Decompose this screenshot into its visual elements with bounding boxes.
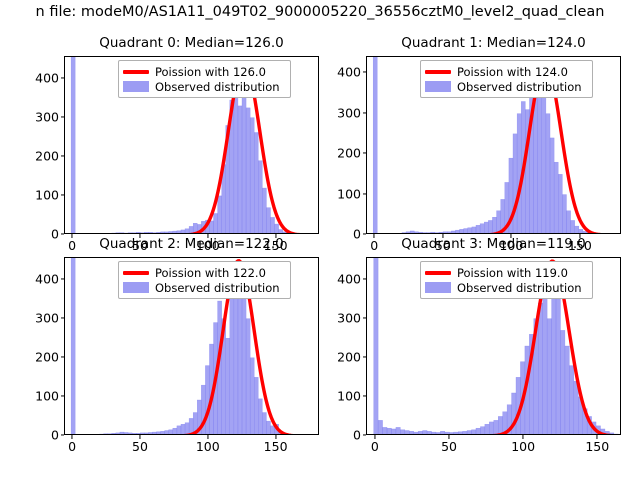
y-tick-label: 100 bbox=[337, 388, 361, 403]
patch-swatch-icon bbox=[425, 81, 451, 93]
legend-entry-poisson: Poission with 122.0 bbox=[123, 265, 285, 280]
legend-entry-observed: Observed distribution bbox=[425, 79, 587, 94]
y-tick-label: 0 bbox=[353, 227, 361, 242]
x-tick-mark bbox=[448, 435, 449, 439]
x-tick-mark bbox=[275, 435, 276, 439]
subplot-title-quadrant-0: Quadrant 0: Median=126.0 bbox=[64, 35, 319, 51]
y-tick-mark bbox=[61, 278, 65, 279]
y-tick-label: 100 bbox=[337, 186, 361, 201]
x-tick-label: 0 bbox=[68, 439, 76, 454]
subplot-title-quadrant-2: Quadrant 2: Median=122.0 bbox=[64, 236, 319, 252]
y-tick-label: 300 bbox=[337, 105, 361, 120]
legend-label-observed: Observed distribution bbox=[457, 80, 582, 94]
y-tick-label: 300 bbox=[337, 310, 361, 325]
y-tick-mark bbox=[363, 278, 367, 279]
x-tick-label: 50 bbox=[441, 439, 457, 454]
y-tick-label: 300 bbox=[35, 109, 59, 124]
y-tick-label: 200 bbox=[35, 148, 59, 163]
patch-swatch-icon bbox=[425, 282, 451, 294]
legend-quadrant-2: Poission with 122.0 Observed distributio… bbox=[118, 261, 291, 299]
y-tick-label: 200 bbox=[337, 349, 361, 364]
y-tick-mark bbox=[61, 434, 65, 435]
subplot-quadrant-1: Quadrant 1: Median=124.0 0100200300400 0… bbox=[366, 56, 621, 234]
x-tick-label: 0 bbox=[371, 439, 379, 454]
y-tick-label: 400 bbox=[337, 271, 361, 286]
y-tick-mark bbox=[363, 72, 367, 73]
legend-quadrant-3: Poission with 119.0 Observed distributio… bbox=[420, 261, 593, 299]
figure-suptitle: n file: modeM0/AS1A11_049T02_9000005220_… bbox=[0, 4, 640, 20]
legend-entry-poisson: Poission with 126.0 bbox=[123, 64, 285, 79]
x-tick-mark bbox=[139, 435, 140, 439]
y-tick-mark bbox=[61, 395, 65, 396]
x-tick-mark bbox=[207, 435, 208, 439]
y-tick-mark bbox=[363, 317, 367, 318]
y-tick-label: 100 bbox=[35, 187, 59, 202]
y-tick-mark bbox=[363, 193, 367, 194]
x-tick-label: 100 bbox=[196, 439, 220, 454]
y-tick-mark bbox=[61, 233, 65, 234]
patch-swatch-icon bbox=[123, 282, 149, 294]
y-tick-mark bbox=[61, 194, 65, 195]
legend-entry-observed: Observed distribution bbox=[425, 280, 587, 295]
y-tick-mark bbox=[363, 356, 367, 357]
line-swatch-icon bbox=[123, 267, 149, 279]
y-tick-mark bbox=[61, 155, 65, 156]
y-tick-mark bbox=[61, 77, 65, 78]
y-tick-mark bbox=[61, 356, 65, 357]
subplot-quadrant-3: Quadrant 3: Median=119.0 0100200300400 0… bbox=[366, 257, 621, 435]
legend-quadrant-0: Poission with 126.0 Observed distributio… bbox=[118, 60, 291, 98]
legend-quadrant-1: Poission with 124.0 Observed distributio… bbox=[420, 60, 593, 98]
legend-entry-poisson: Poission with 119.0 bbox=[425, 265, 587, 280]
line-swatch-icon bbox=[425, 267, 451, 279]
y-tick-mark bbox=[363, 153, 367, 154]
patch-swatch-icon bbox=[123, 81, 149, 93]
x-tick-mark bbox=[72, 435, 73, 439]
x-tick-mark bbox=[374, 435, 375, 439]
legend-label-poisson: Poission with 126.0 bbox=[155, 65, 266, 79]
y-tick-mark bbox=[61, 116, 65, 117]
subplot-quadrant-0: Quadrant 0: Median=126.0 0100200300400 0… bbox=[64, 56, 319, 234]
y-tick-label: 400 bbox=[35, 70, 59, 85]
y-tick-mark bbox=[363, 395, 367, 396]
x-tick-mark bbox=[597, 435, 598, 439]
matplotlib-figure: n file: modeM0/AS1A11_049T02_9000005220_… bbox=[0, 0, 640, 480]
y-tick-label: 0 bbox=[51, 428, 59, 443]
line-swatch-icon bbox=[425, 66, 451, 78]
y-tick-mark bbox=[363, 434, 367, 435]
y-tick-label: 100 bbox=[35, 388, 59, 403]
legend-label-poisson: Poission with 124.0 bbox=[457, 65, 568, 79]
y-tick-label: 200 bbox=[35, 349, 59, 364]
legend-entry-observed: Observed distribution bbox=[123, 280, 285, 295]
subplot-quadrant-2: Quadrant 2: Median=122.0 0100200300400 0… bbox=[64, 257, 319, 435]
x-tick-label: 150 bbox=[585, 439, 609, 454]
subplot-title-quadrant-1: Quadrant 1: Median=124.0 bbox=[366, 35, 621, 51]
y-tick-label: 0 bbox=[51, 227, 59, 242]
legend-entry-observed: Observed distribution bbox=[123, 79, 285, 94]
x-tick-label: 50 bbox=[132, 439, 148, 454]
y-tick-mark bbox=[363, 112, 367, 113]
legend-label-observed: Observed distribution bbox=[457, 281, 582, 295]
legend-label-poisson: Poission with 122.0 bbox=[155, 266, 266, 280]
y-tick-label: 400 bbox=[337, 65, 361, 80]
y-tick-mark bbox=[363, 233, 367, 234]
legend-label-observed: Observed distribution bbox=[155, 281, 280, 295]
x-tick-mark bbox=[523, 435, 524, 439]
y-tick-label: 200 bbox=[337, 146, 361, 161]
y-tick-mark bbox=[61, 317, 65, 318]
x-tick-label: 150 bbox=[264, 439, 288, 454]
y-tick-label: 400 bbox=[35, 271, 59, 286]
subplot-title-quadrant-3: Quadrant 3: Median=119.0 bbox=[366, 236, 621, 252]
line-swatch-icon bbox=[123, 66, 149, 78]
legend-label-poisson: Poission with 119.0 bbox=[457, 266, 568, 280]
legend-label-observed: Observed distribution bbox=[155, 80, 280, 94]
y-tick-label: 0 bbox=[353, 428, 361, 443]
x-tick-label: 100 bbox=[511, 439, 535, 454]
legend-entry-poisson: Poission with 124.0 bbox=[425, 64, 587, 79]
y-tick-label: 300 bbox=[35, 310, 59, 325]
